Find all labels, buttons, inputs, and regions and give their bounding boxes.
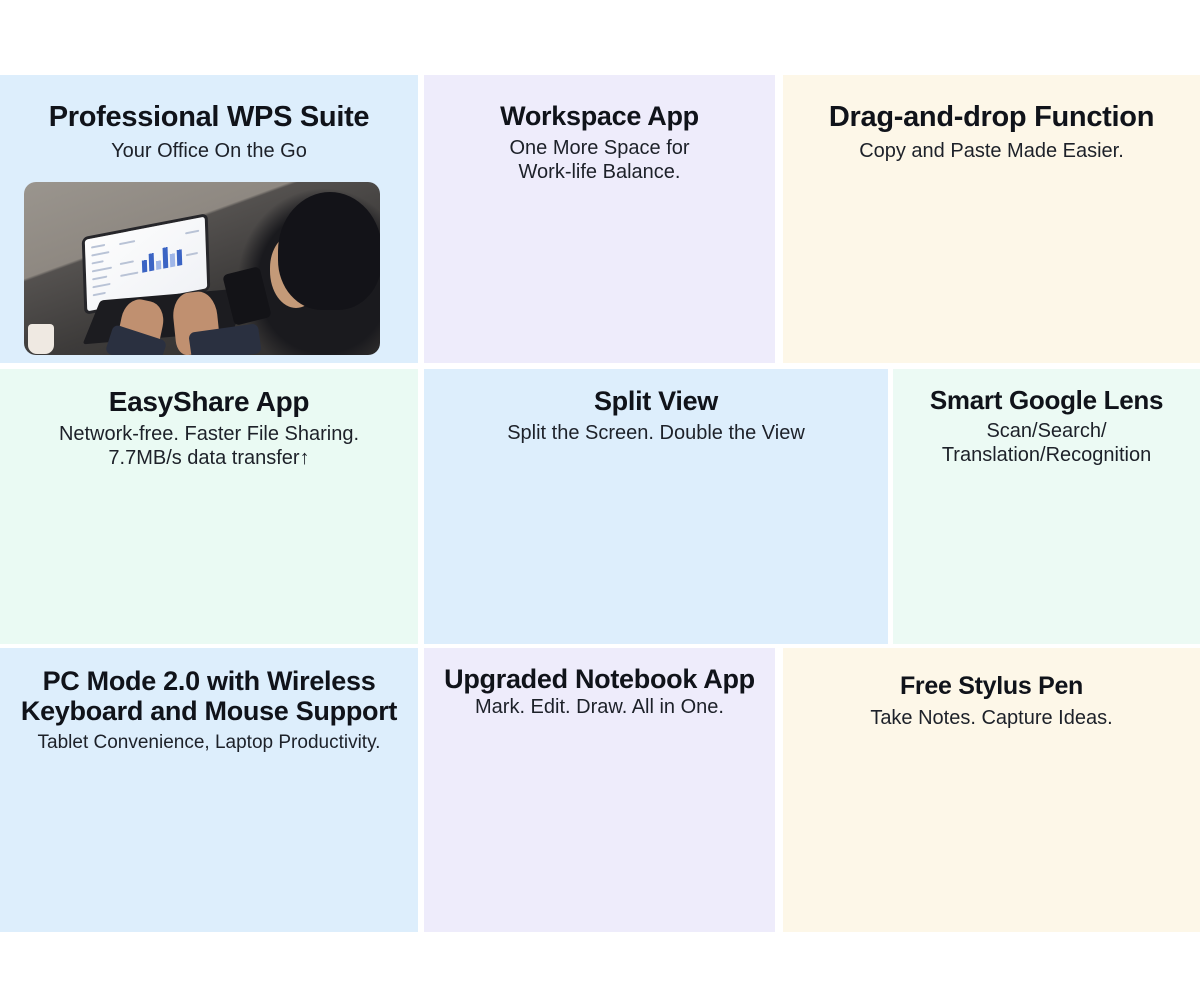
tablet-chart <box>142 243 183 273</box>
feature-title-splitview: Split View <box>424 386 888 416</box>
feature-subtitle-pcmode: Tablet Convenience, Laptop Productivity. <box>0 732 418 754</box>
title-line-1: PC Mode 2.0 with Wireless <box>0 666 418 696</box>
feature-subtitle-easyshare: Network-free. Faster File Sharing. 7.7MB… <box>0 423 418 470</box>
feature-card-stylus: Free Stylus Pen Take Notes. Capture Idea… <box>783 648 1200 932</box>
feature-title-lens: Smart Google Lens <box>893 386 1200 415</box>
feature-subtitle-splitview: Split the Screen. Double the View <box>424 422 888 446</box>
subtitle-line-1: Scan/Search/ <box>893 420 1200 444</box>
feature-title-wps: Professional WPS Suite <box>0 101 418 133</box>
feature-card-splitview: Split View Split the Screen. Double the … <box>424 369 888 644</box>
feature-subtitle-notebook: Mark. Edit. Draw. All in One. <box>424 696 775 720</box>
subtitle-line-2: Work-life Balance. <box>424 161 775 185</box>
feature-card-workspace: Workspace App One More Space for Work-li… <box>424 75 775 363</box>
feature-subtitle-lens: Scan/Search/ Translation/Recognition <box>893 420 1200 467</box>
feature-title-dragdrop: Drag-and-drop Function <box>783 101 1200 133</box>
subtitle-line-2: Translation/Recognition <box>893 444 1200 468</box>
feature-subtitle-dragdrop: Copy and Paste Made Easier. <box>783 140 1200 164</box>
feature-grid-page: Professional WPS Suite Your Office On th… <box>0 0 1200 982</box>
feature-title-notebook: Upgraded Notebook App <box>424 664 775 694</box>
feature-subtitle-workspace: One More Space for Work-life Balance. <box>424 137 775 184</box>
feature-card-pcmode: PC Mode 2.0 with Wireless Keyboard and M… <box>0 648 418 932</box>
feature-subtitle-stylus: Take Notes. Capture Ideas. <box>783 707 1200 731</box>
subtitle-line-1: One More Space for <box>424 137 775 161</box>
feature-title-workspace: Workspace App <box>424 101 775 131</box>
wps-tablet-photo <box>24 182 380 355</box>
feature-card-easyshare: EasyShare App Network-free. Faster File … <box>0 369 418 644</box>
feature-card-lens: Smart Google Lens Scan/Search/ Translati… <box>893 369 1200 644</box>
feature-title-easyshare: EasyShare App <box>0 386 418 417</box>
subtitle-line-2: 7.7MB/s data transfer↑ <box>0 447 418 471</box>
cup <box>28 324 54 354</box>
subtitle-line-1: Network-free. Faster File Sharing. <box>0 423 418 447</box>
title-line-2: Keyboard and Mouse Support <box>0 696 418 726</box>
feature-subtitle-wps: Your Office On the Go <box>0 140 418 164</box>
feature-card-wps: Professional WPS Suite Your Office On th… <box>0 75 418 363</box>
feature-title-pcmode: PC Mode 2.0 with Wireless Keyboard and M… <box>0 666 418 726</box>
feature-card-notebook: Upgraded Notebook App Mark. Edit. Draw. … <box>424 648 775 932</box>
feature-card-dragdrop: Drag-and-drop Function Copy and Paste Ma… <box>783 75 1200 363</box>
person-head <box>278 192 380 310</box>
feature-title-stylus: Free Stylus Pen <box>783 672 1200 700</box>
